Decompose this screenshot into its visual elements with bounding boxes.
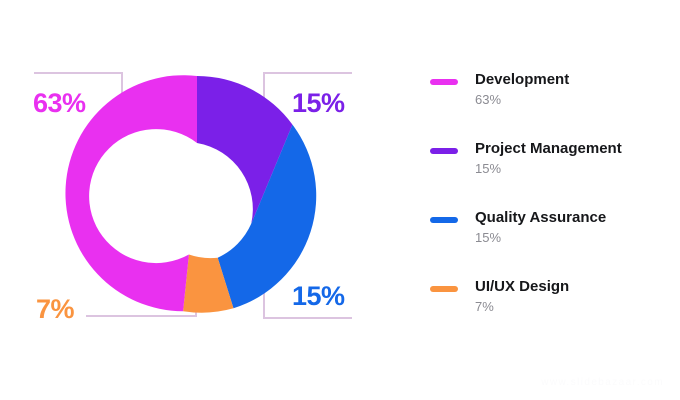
callout-development: 63% <box>33 90 86 117</box>
legend-value: 63% <box>475 91 569 109</box>
legend-item-quality-assurance[interactable]: Quality Assurance 15% <box>430 208 670 277</box>
legend-text-group: Project Management 15% <box>475 139 622 178</box>
slide-canvas: 63% 15% 15% 7% Development 63% Project M… <box>0 0 680 400</box>
chart-legend: Development 63% Project Management 15% Q… <box>430 70 670 346</box>
legend-text-group: Quality Assurance 15% <box>475 208 606 247</box>
callout-quality-assurance: 15% <box>292 283 345 310</box>
legend-swatch-icon <box>430 79 458 85</box>
legend-item-uiux-design[interactable]: UI/UX Design 7% <box>430 277 670 346</box>
legend-swatch-icon <box>430 148 458 154</box>
legend-swatch-icon <box>430 286 458 292</box>
legend-label: UI/UX Design <box>475 277 569 296</box>
legend-item-development[interactable]: Development 63% <box>430 70 670 139</box>
legend-value: 7% <box>475 298 569 316</box>
legend-text-group: UI/UX Design 7% <box>475 277 569 316</box>
callout-uiux-design: 7% <box>36 296 74 323</box>
legend-value: 15% <box>475 160 622 178</box>
legend-label: Project Management <box>475 139 622 158</box>
legend-label: Quality Assurance <box>475 208 606 227</box>
legend-label: Development <box>475 70 569 89</box>
legend-text-group: Development 63% <box>475 70 569 109</box>
donut-segments <box>65 75 316 312</box>
callout-project-management: 15% <box>292 90 345 117</box>
legend-swatch-icon <box>430 217 458 223</box>
legend-item-project-management[interactable]: Project Management 15% <box>430 139 670 208</box>
legend-value: 15% <box>475 229 606 247</box>
watermark: www.slidebazaar.com <box>541 377 664 388</box>
donut-chart-svg <box>0 0 400 400</box>
donut-chart: 63% 15% 15% 7% <box>0 0 400 400</box>
